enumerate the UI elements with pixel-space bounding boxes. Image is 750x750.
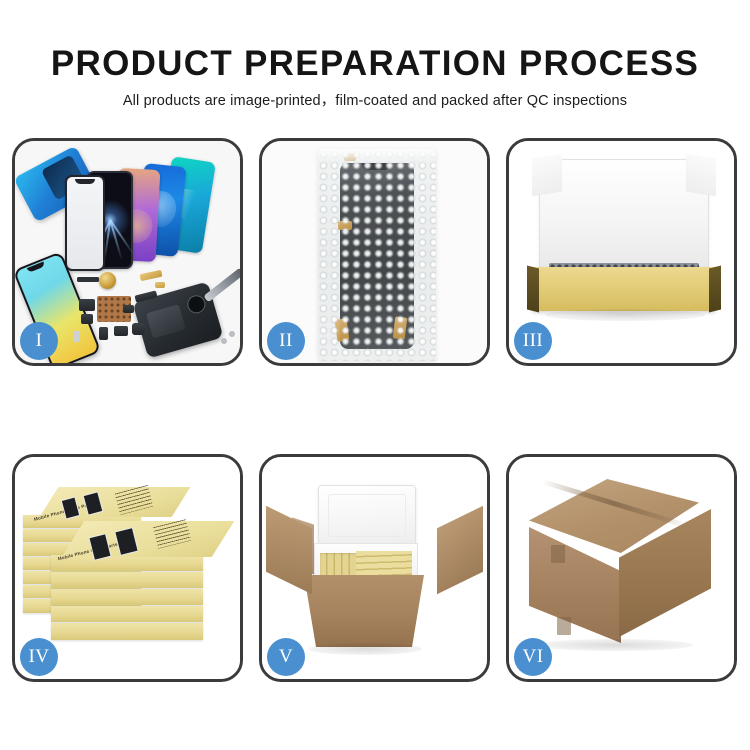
process-step-panel-6: VI — [506, 454, 737, 682]
page-title: PRODUCT PREPARATION PROCESS — [0, 0, 750, 84]
carton-tape-patch — [557, 617, 571, 635]
step-number-badge: II — [267, 322, 305, 360]
bubble-wrap-bag — [318, 149, 436, 361]
kraft-box-layer — [51, 572, 203, 588]
carton-body — [304, 575, 424, 647]
small-part-icon — [73, 331, 80, 342]
flex-cable-icon — [114, 326, 128, 336]
process-step-panel-4: Mobile Phone Spare Parts Mobile Phone Sp… — [12, 454, 243, 682]
drop-shadow — [308, 643, 422, 655]
phone-glass-protector-icon — [65, 175, 105, 271]
bubble-texture — [318, 149, 436, 361]
page-subtitle: All products are image-printed，film-coat… — [0, 84, 750, 110]
process-step-grid: I II — [12, 138, 738, 688]
kraft-box-layer — [51, 606, 203, 622]
step-number-badge: VI — [514, 638, 552, 676]
process-step-panel-2: II — [259, 138, 490, 366]
component-chip-icon — [77, 277, 99, 282]
process-step-panel-1: I — [12, 138, 243, 366]
carton-tape-patch — [551, 545, 565, 563]
header: PRODUCT PREPARATION PROCESS All products… — [0, 0, 750, 110]
drop-shadow — [537, 639, 693, 651]
product-preparation-infographic: PRODUCT PREPARATION PROCESS All products… — [0, 0, 750, 750]
kraft-box-layer — [51, 623, 203, 640]
box-side-right — [709, 266, 721, 313]
speaker-module-icon — [99, 272, 116, 289]
flex-cable-icon — [123, 305, 134, 313]
gold-connector-icon — [155, 282, 165, 288]
step-number-badge: I — [20, 322, 58, 360]
step-number-badge: IV — [20, 638, 58, 676]
screw-icon — [221, 338, 227, 344]
bag-seal-edge — [318, 149, 436, 163]
white-foam-lid — [539, 159, 709, 269]
flex-cable-icon — [79, 299, 95, 311]
flex-cable-icon — [99, 327, 108, 340]
kraft-box-base — [533, 267, 715, 311]
foam-lid-open — [318, 485, 416, 547]
drop-shadow — [545, 309, 705, 321]
flex-cable-icon — [81, 314, 93, 324]
kraft-box-layer — [51, 589, 203, 605]
battery-icon — [146, 304, 186, 338]
step-number-badge: III — [514, 322, 552, 360]
step-number-badge: V — [267, 638, 305, 676]
process-step-panel-3: III — [506, 138, 737, 366]
screw-icon — [229, 331, 235, 337]
box-side-left — [527, 266, 539, 313]
process-step-panel-5: V — [259, 454, 490, 682]
flex-cable-icon — [132, 323, 145, 335]
